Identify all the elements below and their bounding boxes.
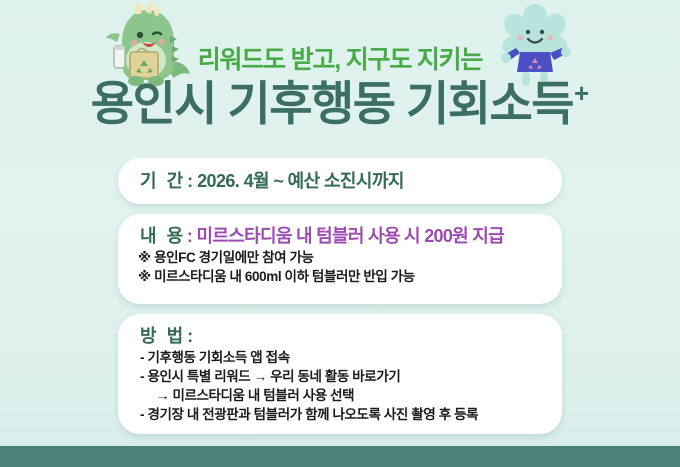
method-card: 방법 : - 기후행동 기회소득 앱 접속 - 용인시 특별 리워드 → 우리 … bbox=[118, 314, 562, 434]
period-label-2: 간 bbox=[167, 171, 183, 191]
content-note: ※ 미르스타디움 내 600ml 이하 텀블러만 반입 가능 bbox=[134, 267, 546, 286]
content-value: 미르스타디움 내 텀블러 사용 시 200원 지급 bbox=[197, 226, 505, 246]
method-row: 방법 : bbox=[134, 324, 546, 348]
content-card: 내용 : 미르스타디움 내 텀블러 사용 시 200원 지급 ※ 용인FC 경기… bbox=[118, 214, 562, 304]
content-note: ※ 용인FC 경기일에만 참여 가능 bbox=[134, 248, 546, 267]
method-separator: : bbox=[183, 326, 193, 346]
period-label-1: 기 bbox=[140, 171, 167, 191]
period-value: 2026. 4월 ~ 예산 소진시까지 bbox=[197, 171, 404, 191]
content-label-1: 내 bbox=[140, 226, 167, 246]
bottom-accent-bar bbox=[0, 446, 680, 467]
period-row: 기간 : 2026. 4월 ~ 예산 소진시까지 bbox=[134, 168, 546, 194]
poster-root: 리워드도 받고, 지구도 지키는 용인시 기후행동 기회소득+ 기간 : 202… bbox=[0, 0, 680, 467]
content-label-2: 용 bbox=[167, 226, 183, 246]
period-separator: : bbox=[183, 171, 198, 191]
method-label-2: 법 bbox=[167, 326, 183, 346]
method-step: - 기후행동 기회소득 앱 접속 bbox=[134, 348, 546, 367]
content-row: 내용 : 미르스타디움 내 텀블러 사용 시 200원 지급 bbox=[134, 224, 546, 248]
method-label-1: 방 bbox=[140, 326, 167, 346]
method-step: → 미르스타디움 내 텀블러 사용 선택 bbox=[134, 386, 546, 405]
method-step: - 경기장 내 전광판과 텀블러가 함께 나오도록 사진 촬영 후 등록 bbox=[134, 405, 546, 424]
title-superscript-plus: + bbox=[574, 78, 589, 108]
period-card: 기간 : 2026. 4월 ~ 예산 소진시까지 bbox=[118, 158, 562, 204]
poster-subtitle: 리워드도 받고, 지구도 지키는 bbox=[0, 40, 680, 76]
page-title: 용인시 기후행동 기회소득 bbox=[91, 77, 573, 130]
method-step: - 용인시 특별 리워드 → 우리 동네 활동 바로가기 bbox=[134, 367, 546, 386]
poster-header: 리워드도 받고, 지구도 지키는 용인시 기후행동 기회소득+ bbox=[0, 0, 680, 150]
poster-title: 용인시 기후행동 기회소득+ bbox=[0, 78, 680, 127]
content-separator: : bbox=[183, 226, 197, 246]
